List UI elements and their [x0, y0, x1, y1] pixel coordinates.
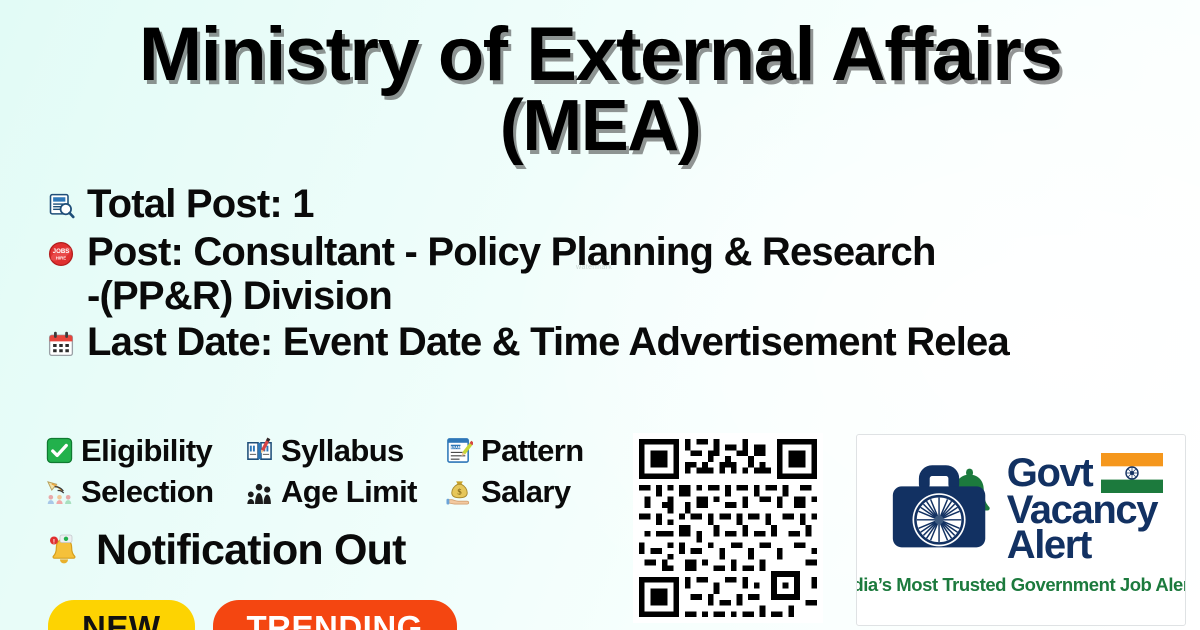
- people-group-icon: [244, 477, 274, 507]
- tag-label-age-limit: Age Limit: [281, 474, 417, 510]
- calendar-icon: [44, 324, 78, 364]
- watermark: watermark: [576, 264, 612, 271]
- tag-label-eligibility: Eligibility: [81, 433, 212, 469]
- svg-text:$: $: [457, 486, 462, 496]
- feature-tag-row-1: Eligibility: [44, 430, 644, 471]
- tag-label-salary: Salary: [481, 474, 570, 510]
- svg-text:EXAM: EXAM: [450, 445, 460, 449]
- logo-wordmark: Govt: [1007, 453, 1164, 563]
- new-badge[interactable]: NEW: [48, 600, 195, 630]
- svg-text:HIRE: HIRE: [56, 255, 67, 260]
- logo-row-govt-flag: Govt: [1007, 453, 1164, 493]
- tag-selection[interactable]: Selection: [44, 474, 244, 510]
- badge-pill-group: NEW TRENDING: [48, 600, 457, 630]
- open-book-pen-icon: [244, 436, 274, 466]
- svg-text:JOBS: JOBS: [53, 248, 70, 255]
- brand-logo-card: Govt: [856, 434, 1186, 626]
- tag-label-pattern: Pattern: [481, 433, 584, 469]
- title-line-2: (MEA): [0, 92, 1200, 162]
- detail-text-post-continuation: -(PP&R) Division: [44, 276, 1200, 316]
- notification-out-label: Notification Out: [96, 526, 406, 575]
- exam-paper-icon: EXAM: [444, 436, 474, 466]
- feature-tag-grid: Eligibility: [44, 430, 644, 512]
- india-flag-icon: [1101, 453, 1163, 493]
- tag-pattern[interactable]: EXAM Pattern: [444, 433, 644, 469]
- tag-age-limit[interactable]: Age Limit: [244, 474, 444, 510]
- tag-syllabus[interactable]: Syllabus: [244, 433, 444, 469]
- logo-word-govt: Govt: [1007, 456, 1093, 491]
- bell-alert-icon: !: [44, 528, 84, 574]
- logo-tagline: India’s Most Trusted Government Job Aler…: [856, 574, 1186, 596]
- feature-tag-row-2: Selection Age Limit: [44, 471, 644, 512]
- hand-selection-icon: [44, 477, 74, 507]
- detail-text-post: Post: Consultant - Policy Planning & Res…: [87, 232, 936, 272]
- detail-text-total-post: Total Post: 1: [87, 184, 314, 224]
- briefcase-ashoka-chakra-bell-icon: [883, 449, 1001, 567]
- jobs-badge-icon: JOBS HIRE: [44, 234, 78, 274]
- title-line-1: Ministry of External Affairs: [0, 18, 1200, 92]
- detail-row-total-post: Total Post: 1: [44, 184, 1200, 226]
- tag-eligibility[interactable]: Eligibility: [44, 433, 244, 469]
- logo-word-alert: Alert: [1007, 528, 1164, 563]
- job-document-search-icon: [44, 186, 78, 226]
- logo-lockup: Govt: [879, 449, 1164, 567]
- detail-row-post: JOBS HIRE Post: Consultant - Policy Plan…: [44, 232, 1200, 274]
- tag-label-syllabus: Syllabus: [281, 433, 404, 469]
- poster-canvas: Ministry of External Affairs (MEA) Total…: [0, 0, 1200, 630]
- qr-code[interactable]: [633, 433, 823, 623]
- tag-salary[interactable]: $ Salary: [444, 474, 644, 510]
- tag-label-selection: Selection: [81, 474, 213, 510]
- detail-list: Total Post: 1 JOBS HIRE Post: Consultant…: [0, 184, 1200, 364]
- green-check-icon: [44, 436, 74, 466]
- page-title: Ministry of External Affairs (MEA): [0, 0, 1200, 162]
- detail-text-last-date: Last Date: Event Date & Time Advertiseme…: [87, 322, 1009, 362]
- detail-row-last-date: Last Date: Event Date & Time Advertiseme…: [44, 322, 1200, 364]
- svg-text:!: !: [53, 538, 55, 545]
- trending-badge[interactable]: TRENDING: [213, 600, 457, 630]
- money-bag-hand-icon: $: [444, 477, 474, 507]
- notification-out-banner: ! Notification Out: [44, 526, 406, 575]
